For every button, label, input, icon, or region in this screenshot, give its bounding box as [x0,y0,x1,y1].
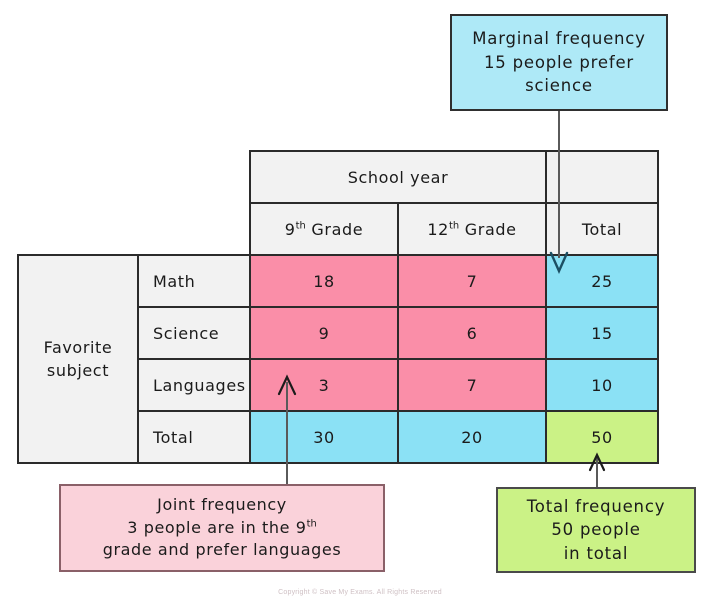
cell-languages-total: 10 [546,359,658,411]
row-group-header-favorite-subject: Favorite subject [18,255,138,463]
joint-callout-line-3: grade and prefer languages [103,539,342,562]
column-header-12th-grade: 12th Grade [398,203,546,255]
cell-languages-12th-grade: 7 [398,359,546,411]
column-header-total: Total [546,203,658,255]
cell-science-12th-grade: 6 [398,307,546,359]
cell-languages-9th-grade: 3 [250,359,398,411]
table-corner-spacer-mid [18,203,138,255]
row-label-languages: Languages [138,359,250,411]
cell-math-12th-grade: 7 [398,255,546,307]
cell-science-total: 15 [546,307,658,359]
cell-math-total: 25 [546,255,658,307]
marginal-frequency-callout: Marginal frequency 15 people prefer scie… [450,14,668,111]
cell-total-12th-grade: 20 [398,411,546,463]
joint-callout-line-2-text: 3 people are in the 9 [127,518,306,537]
cell-total-9th-grade: 30 [250,411,398,463]
column-group-header-school-year: School year [250,151,546,203]
marginal-callout-line-2: 15 people prefer [484,51,634,74]
cell-math-9th-grade: 18 [250,255,398,307]
table-corner-spacer-top-2 [138,151,250,203]
column-header-12th-grade-number: 12 [427,220,449,239]
total-callout-line-2: 50 people [551,518,640,541]
total-callout-line-3: in total [564,542,628,565]
total-frequency-callout: Total frequency 50 people in total [496,487,696,573]
two-way-frequency-table: School year 9th Grade 12th Grade Total F… [17,150,659,464]
column-group-header-blank [546,151,658,203]
cell-science-9th-grade: 9 [250,307,398,359]
table-row-group-header: School year [18,151,658,203]
marginal-callout-line-3: science [525,74,593,97]
marginal-callout-line-1: Marginal frequency [472,27,645,50]
joint-callout-ordinal-suffix: th [307,518,317,529]
table-corner-spacer-mid-2 [138,203,250,255]
cell-grand-total: 50 [546,411,658,463]
column-header-9th-grade-ordinal: th [296,220,306,231]
column-header-12th-grade-word: Grade [459,220,516,239]
row-label-math: Math [138,255,250,307]
joint-callout-line-2: 3 people are in the 9th [127,517,317,540]
table-row-column-headers: 9th Grade 12th Grade Total [18,203,658,255]
row-label-total: Total [138,411,250,463]
column-header-12th-grade-ordinal: th [449,220,459,231]
joint-frequency-callout: Joint frequency 3 people are in the 9th … [59,484,385,572]
table-row-math: Favorite subject Math 18 7 25 [18,255,658,307]
row-group-header-line-1: Favorite [44,338,113,357]
joint-callout-line-1: Joint frequency [157,494,287,517]
total-callout-line-1: Total frequency [527,495,666,518]
column-header-9th-grade-word: Grade [306,220,363,239]
column-header-9th-grade: 9th Grade [250,203,398,255]
copyright-notice: Copyright © Save My Exams. All Rights Re… [0,589,720,596]
table-corner-spacer-top [18,151,138,203]
row-group-header-line-2: subject [47,361,109,380]
column-header-9th-grade-number: 9 [285,220,296,239]
row-label-science: Science [138,307,250,359]
